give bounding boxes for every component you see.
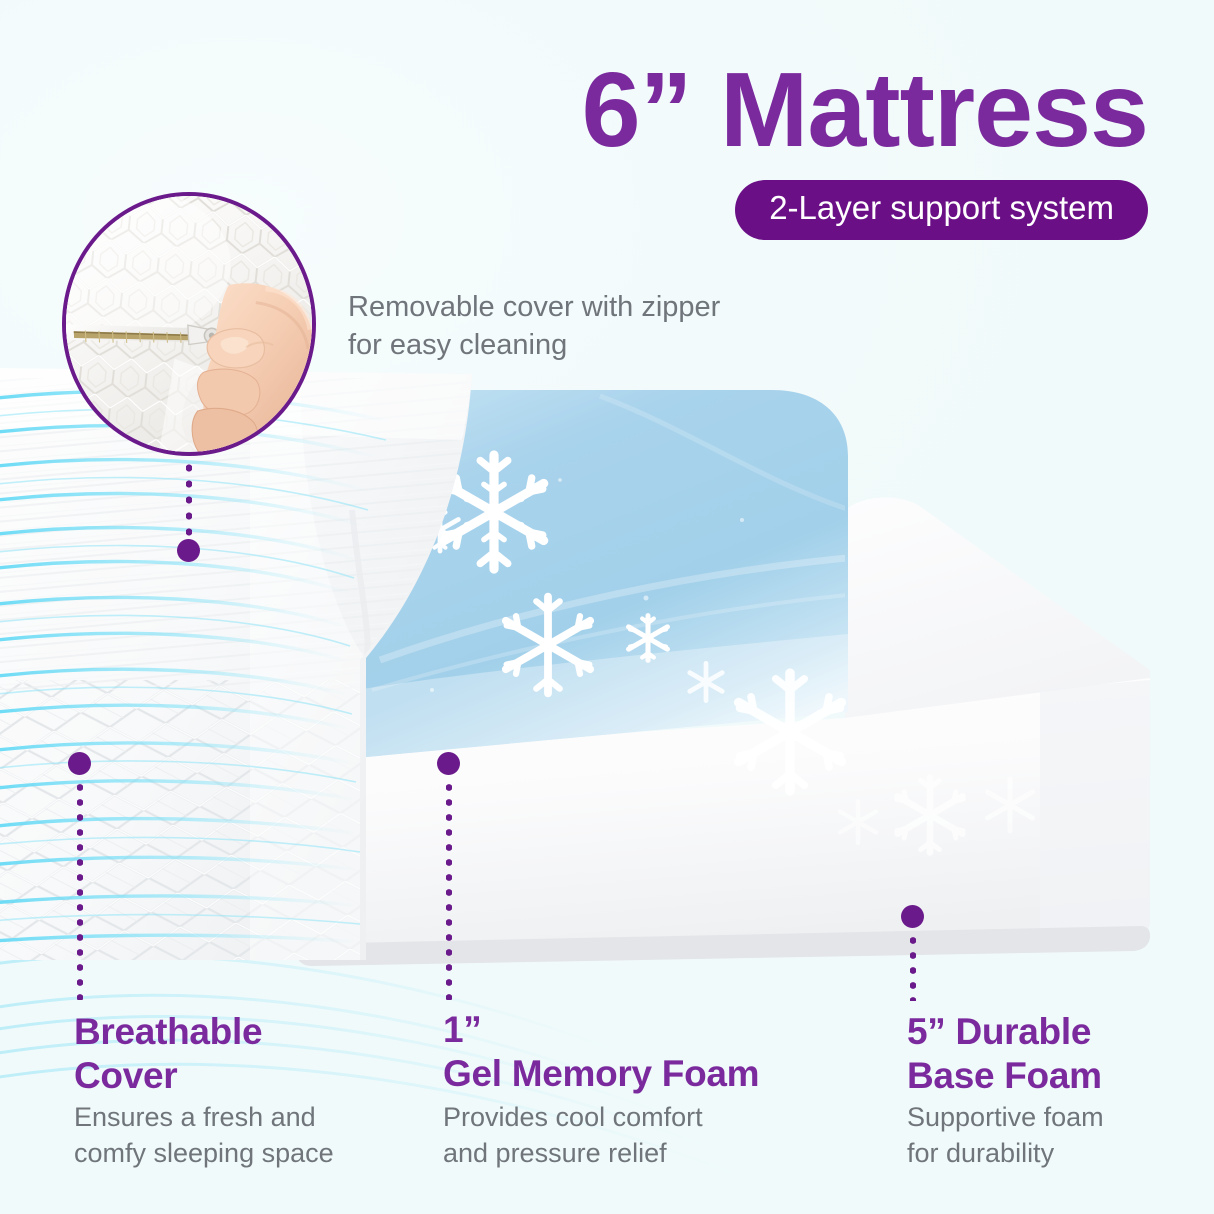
callout-dot-durable-base-foam [901, 905, 924, 928]
callout-title-breathable-cover: Breathable Cover [74, 1010, 404, 1097]
callout-title-durable-base-foam: 5” Durable Base Foam [907, 1010, 1207, 1097]
callout-line-breathable-cover [77, 780, 83, 1000]
callout-dot-gel-memory-foam [437, 752, 460, 775]
infographic-canvas: 6” Mattress 2-Layer support system [0, 0, 1214, 1214]
zipper-callout-text: Removable cover with zipper for easy cle… [348, 288, 720, 365]
callout-desc-breathable-cover: Ensures a fresh and comfy sleeping space [74, 1100, 404, 1171]
callout-line-durable-base-foam [910, 933, 916, 1001]
hand-pulling-zipper-icon [66, 196, 312, 452]
callout-desc-gel-memory-foam: Provides cool comfort and pressure relie… [443, 1100, 833, 1171]
support-system-badge: 2-Layer support system [735, 180, 1148, 240]
zipper-callout-dot [177, 539, 200, 562]
callout-title-gel-memory-foam: 1” Gel Memory Foam [443, 1008, 833, 1095]
page-title: 6” Mattress [582, 56, 1148, 164]
title-block: 6” Mattress 2-Layer support system [582, 56, 1148, 240]
zipper-callout-dotted-line [186, 460, 192, 546]
zipper-detail-circle [62, 192, 316, 456]
callout-dot-breathable-cover [68, 752, 91, 775]
callout-desc-durable-base-foam: Supportive foam for durability [907, 1100, 1207, 1171]
callout-line-gel-memory-foam [446, 780, 452, 1000]
